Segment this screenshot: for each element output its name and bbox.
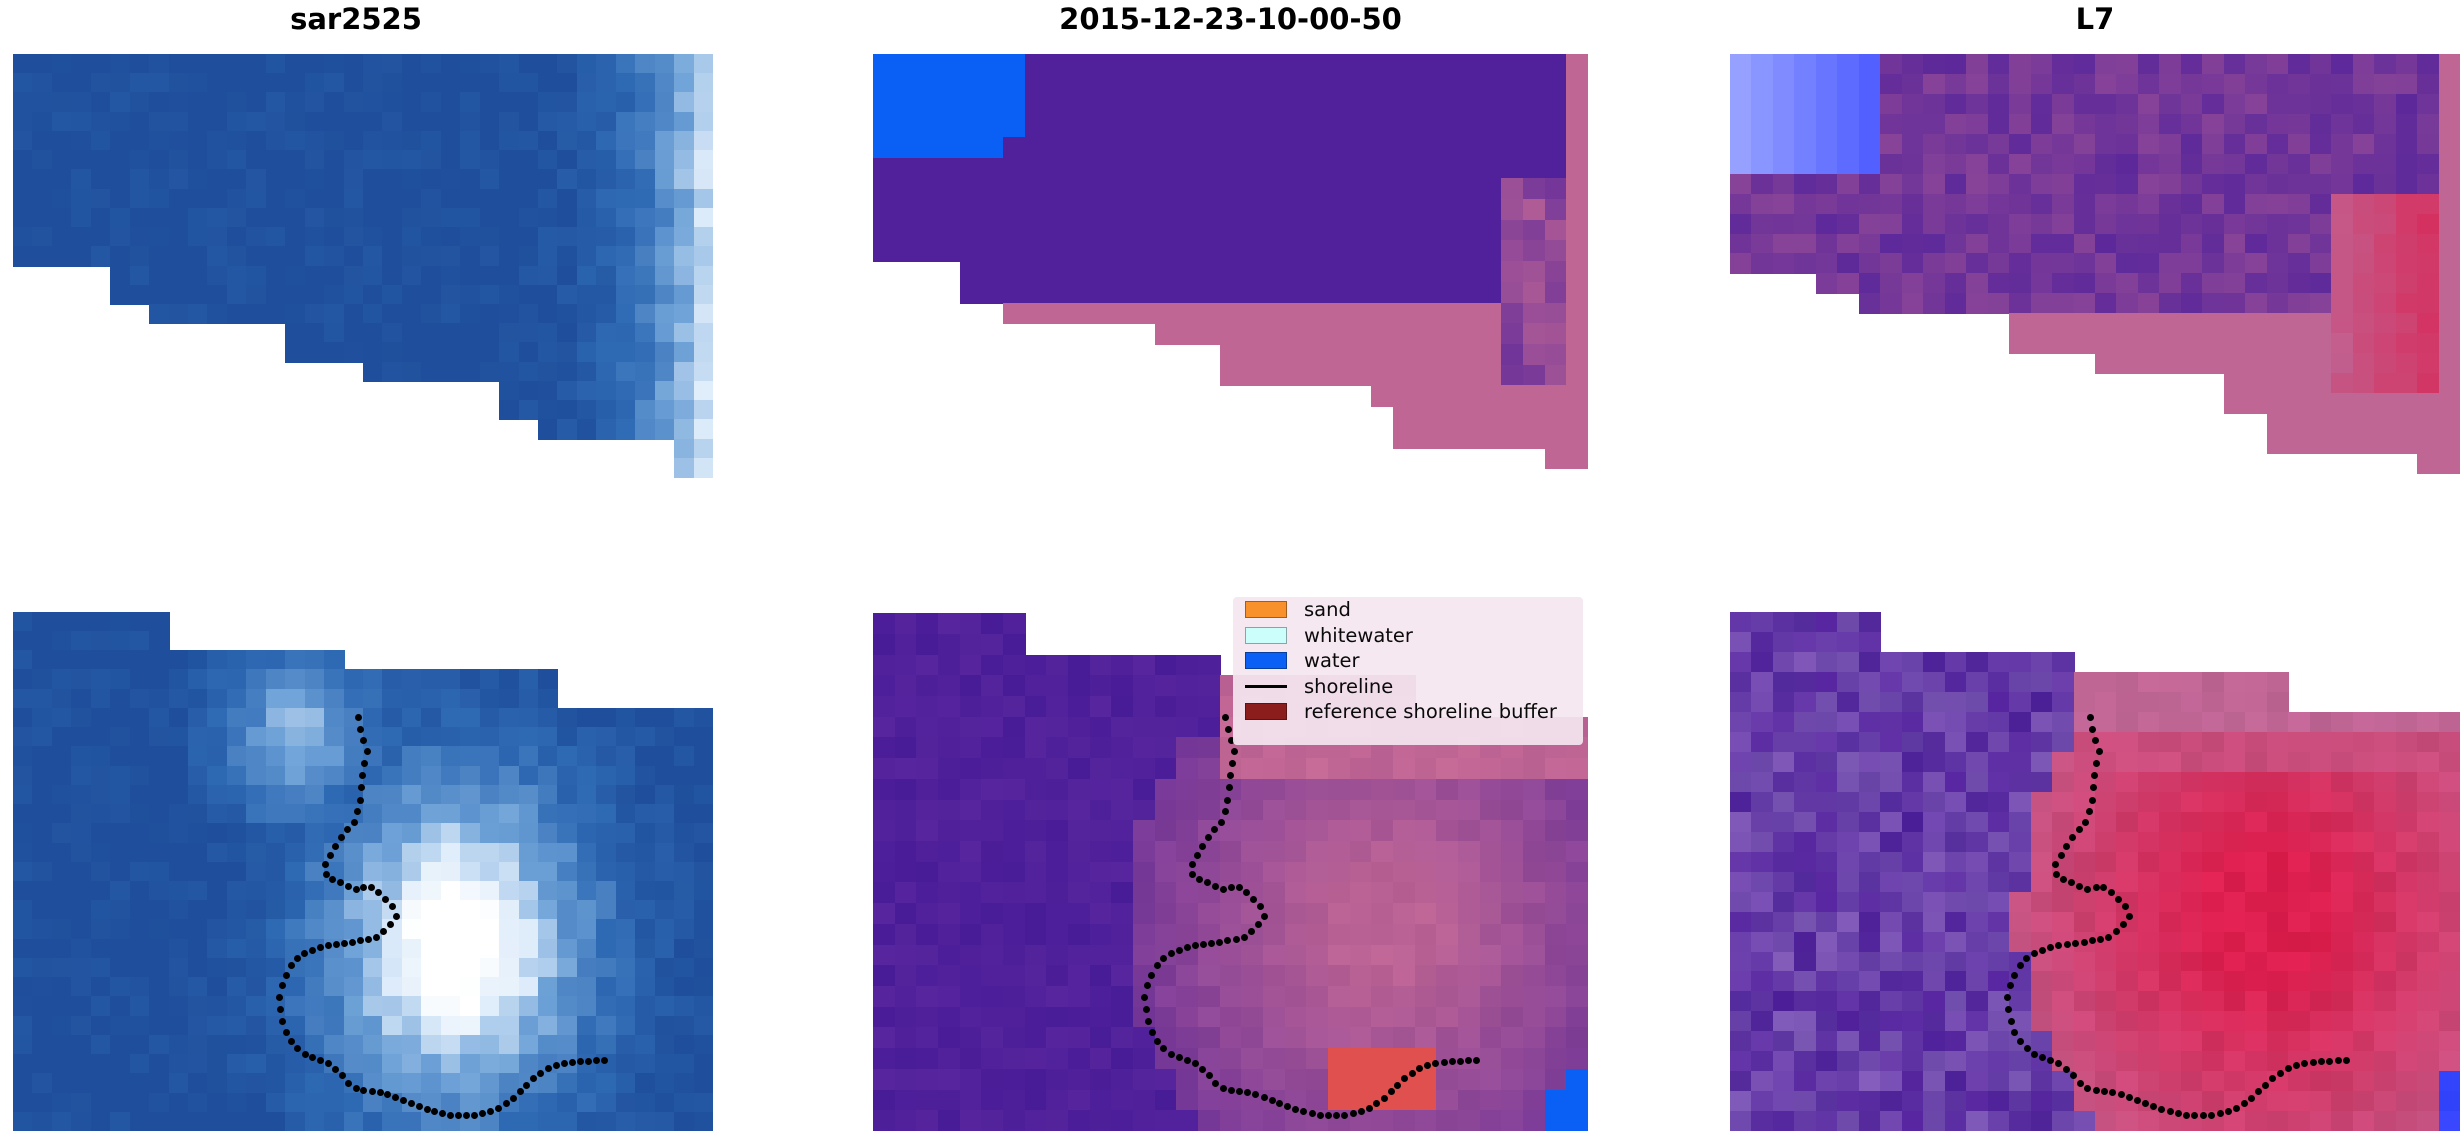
water-swatch: [1245, 652, 1287, 669]
panel-classified: 2015-12-23-10-00-50: [873, 0, 1588, 1131]
l7-raster-image: [1730, 54, 2460, 1131]
classified-raster-image: [873, 54, 1588, 1131]
legend-item-reference-buffer: reference shoreline buffer: [1233, 699, 1583, 725]
panel-l7: L7: [1730, 0, 2460, 1131]
legend-item-sand: sand: [1233, 597, 1583, 623]
legend: sand whitewater water shoreline referenc…: [1233, 597, 1583, 745]
legend-label-reference-buffer: reference shoreline buffer: [1304, 702, 1557, 722]
legend-item-shoreline: shoreline: [1233, 674, 1583, 700]
panel-title-l7: L7: [1730, 2, 2460, 36]
sar-raster-image: [13, 54, 713, 1131]
legend-item-water: water: [1233, 648, 1583, 674]
panel-title-sar2525: sar2525: [0, 2, 712, 36]
legend-label-shoreline: shoreline: [1304, 677, 1393, 697]
whitewater-swatch: [1245, 627, 1287, 644]
legend-label-water: water: [1304, 651, 1360, 671]
panel-sar2525: sar2525: [0, 0, 712, 1131]
shoreline-line-swatch: [1245, 685, 1287, 688]
legend-label-whitewater: whitewater: [1304, 626, 1413, 646]
panel-title-classified: 2015-12-23-10-00-50: [873, 2, 1588, 36]
sand-swatch: [1245, 601, 1287, 618]
legend-item-whitewater: whitewater: [1233, 623, 1583, 649]
legend-label-sand: sand: [1304, 600, 1351, 620]
reference-buffer-swatch: [1245, 703, 1287, 720]
